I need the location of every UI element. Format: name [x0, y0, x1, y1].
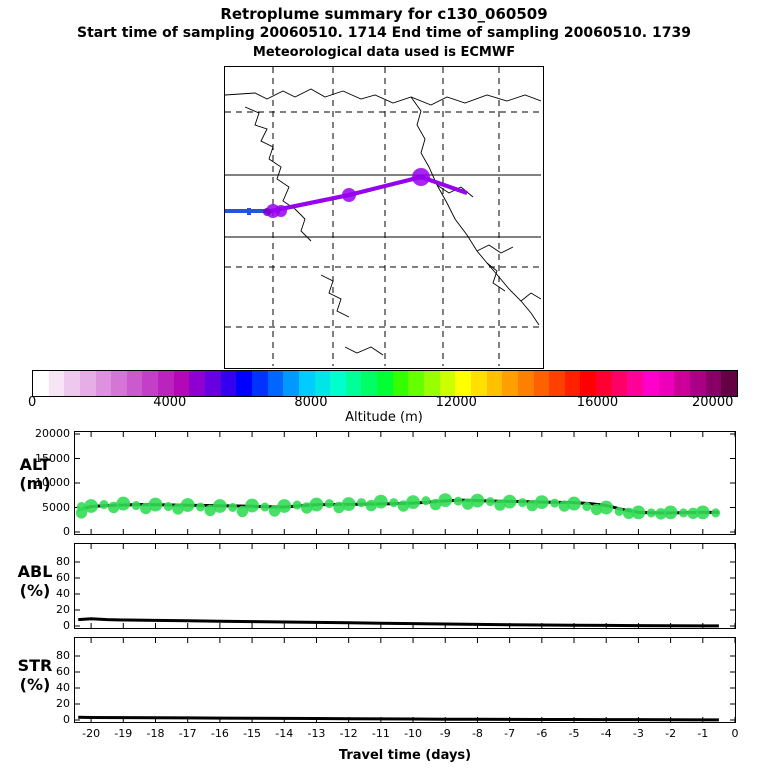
x-tick-label: -13: [300, 727, 332, 740]
colorbar-swatch: [268, 371, 284, 396]
data-point: [164, 502, 173, 511]
colorbar-swatch: [502, 371, 518, 396]
data-point: [196, 503, 205, 512]
x-tick-label: -2: [655, 727, 687, 740]
data-point: [357, 498, 366, 507]
data-point: [406, 495, 420, 509]
colorbar-swatch: [455, 371, 471, 396]
colorbar-swatch: [534, 371, 550, 396]
x-tick-label: -15: [236, 727, 268, 740]
colorbar-tick: 8000: [294, 395, 327, 410]
data-point: [438, 493, 452, 507]
colorbar-swatch: [659, 371, 675, 396]
data-line: [78, 619, 719, 626]
colorbar-swatch: [518, 371, 534, 396]
colorbar-swatch: [471, 371, 487, 396]
y-tick-label: 20000: [22, 427, 70, 440]
x-tick-label: -11: [365, 727, 397, 740]
colorbar-swatch: [330, 371, 346, 396]
data-point: [615, 507, 624, 516]
colorbar-label: Altitude (m): [0, 410, 768, 425]
x-tick-label: -3: [622, 727, 654, 740]
data-point: [518, 498, 527, 507]
colorbar-swatch: [236, 371, 252, 396]
x-tick-label: -16: [204, 727, 236, 740]
data-point: [342, 497, 356, 511]
str-plot: [75, 638, 735, 722]
x-tick-label: -8: [461, 727, 493, 740]
y-tick-label: 15000: [22, 452, 70, 465]
colorbar-swatch: [111, 371, 127, 396]
x-tick-label: -14: [268, 727, 300, 740]
colorbar-swatch: [283, 371, 299, 396]
data-point: [213, 499, 227, 513]
colorbar-swatch: [64, 371, 80, 396]
y-tick-label: 0: [22, 619, 70, 632]
colorbar-swatch: [643, 371, 659, 396]
colorbar-swatch: [596, 371, 612, 396]
colorbar-swatch: [361, 371, 377, 396]
data-point: [454, 497, 463, 506]
colorbar-swatch: [674, 371, 690, 396]
data-point: [374, 495, 388, 509]
colorbar-tick: 4000: [153, 395, 186, 410]
retroplume-map: [224, 66, 544, 369]
colorbar-swatch: [440, 371, 456, 396]
data-point: [421, 496, 430, 505]
y-tick-label: 0: [22, 525, 70, 538]
data-point: [293, 501, 302, 510]
colorbar-swatch: [408, 371, 424, 396]
colorbar-swatch: [612, 371, 628, 396]
data-point: [567, 497, 581, 511]
y-tick-label: 60: [22, 665, 70, 678]
x-tick-label: -20: [75, 727, 107, 740]
colorbar-swatch: [142, 371, 158, 396]
data-point: [181, 498, 195, 512]
colorbar-swatch: [96, 371, 112, 396]
met-data-subtitle: Meteorological data used is ECMWF: [0, 45, 768, 60]
colorbar-tick: 16000: [577, 395, 618, 410]
data-point: [632, 506, 646, 520]
data-point: [84, 499, 98, 513]
y-tick-label: 10000: [22, 476, 70, 489]
data-point: [711, 508, 720, 517]
data-point: [486, 497, 495, 506]
x-tick-label: -5: [558, 727, 590, 740]
colorbar-swatch: [627, 371, 643, 396]
coastline-paths: [225, 89, 541, 355]
colorbar-swatch: [346, 371, 362, 396]
colorbar-swatch: [580, 371, 596, 396]
x-tick-label: -18: [139, 727, 171, 740]
colorbar-swatch: [487, 371, 503, 396]
data-point: [696, 506, 710, 520]
colorbar-swatch: [252, 371, 268, 396]
y-tick-label: 20: [22, 697, 70, 710]
x-tick-label: -6: [526, 727, 558, 740]
data-point: [503, 495, 517, 509]
data-point: [310, 498, 324, 512]
data-point: [599, 501, 613, 515]
data-point: [679, 508, 688, 517]
x-tick-label: -9: [429, 727, 461, 740]
data-point: [245, 499, 259, 513]
data-point: [471, 494, 485, 508]
altitude-colorbar: [32, 370, 738, 397]
colorbar-swatch: [80, 371, 96, 396]
colorbar-swatch: [706, 371, 722, 396]
colorbar-swatch: [299, 371, 315, 396]
data-point: [664, 506, 678, 520]
colorbar-swatch: [205, 371, 221, 396]
colorbar-swatch: [565, 371, 581, 396]
y-tick-label: 60: [22, 571, 70, 584]
colorbar-swatch: [549, 371, 565, 396]
colorbar-swatch: [221, 371, 237, 396]
colorbar-swatch: [189, 371, 205, 396]
data-point: [647, 508, 656, 517]
colorbar-tick: 12000: [436, 395, 477, 410]
map-svg: [225, 67, 541, 366]
alt-plot: [75, 432, 735, 534]
data-point: [277, 499, 291, 513]
colorbar-tick: 20000: [692, 395, 733, 410]
sampling-time-subtitle: Start time of sampling 20060510. 1714 En…: [0, 25, 768, 41]
colorbar-swatch: [33, 371, 49, 396]
data-point: [550, 499, 559, 508]
x-tick-label: -1: [687, 727, 719, 740]
y-tick-label: 20: [22, 603, 70, 616]
colorbar-swatch: [690, 371, 706, 396]
page-title: Retroplume summary for c130_060509: [0, 5, 768, 23]
y-tick-label: 40: [22, 681, 70, 694]
x-tick-label: -17: [172, 727, 204, 740]
data-line: [78, 717, 719, 720]
colorbar-swatch: [377, 371, 393, 396]
colorbar-swatch: [174, 371, 190, 396]
abl-plot: [75, 544, 735, 628]
y-tick-label: 40: [22, 587, 70, 600]
x-tick-label: -7: [494, 727, 526, 740]
data-point: [228, 503, 237, 512]
data-point: [149, 498, 163, 512]
data-point: [325, 499, 334, 508]
colorbar-swatch: [158, 371, 174, 396]
x-tick-label: -12: [333, 727, 365, 740]
data-point: [260, 503, 269, 512]
colorbar-swatch: [721, 371, 737, 396]
colorbar-swatch: [49, 371, 65, 396]
colorbar-swatch: [315, 371, 331, 396]
data-point: [582, 502, 591, 511]
x-tick-label: -4: [590, 727, 622, 740]
data-point: [132, 501, 141, 510]
colorbar-swatch: [393, 371, 409, 396]
data-point: [389, 498, 398, 507]
x-axis-label: Travel time (days): [74, 748, 736, 763]
data-point: [99, 500, 108, 509]
y-tick-label: 0: [22, 713, 70, 726]
colorbar-swatch: [424, 371, 440, 396]
colorbar-tick: 0: [28, 395, 36, 410]
y-tick-label: 5000: [22, 501, 70, 514]
x-tick-label: -19: [107, 727, 139, 740]
colorbar-swatch: [127, 371, 143, 396]
data-point: [116, 497, 130, 511]
x-tick-label: 0: [719, 727, 751, 740]
y-tick-label: 80: [22, 555, 70, 568]
data-point: [535, 495, 549, 509]
y-tick-label: 80: [22, 649, 70, 662]
x-tick-label: -10: [397, 727, 429, 740]
